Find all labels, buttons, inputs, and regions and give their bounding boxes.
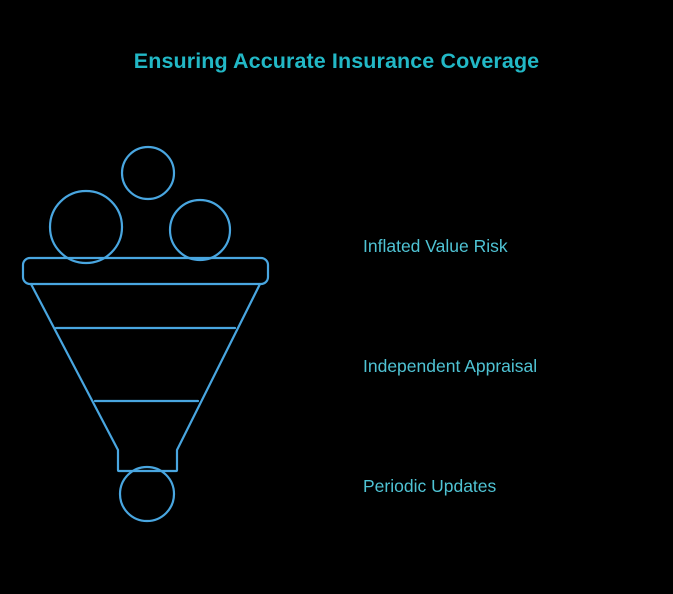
funnel-drop-icon [120, 467, 174, 521]
funnel-graphic [0, 130, 300, 540]
funnel-label-inflated-value-risk: Inflated Value Risk [363, 238, 508, 256]
funnel-label-periodic-updates: Periodic Updates [363, 478, 496, 496]
funnel-label-independent-appraisal: Independent Appraisal [363, 358, 537, 376]
circle-right-icon [170, 200, 230, 260]
funnel-svg [0, 130, 300, 540]
circle-left-icon [50, 191, 122, 263]
circle-top-icon [122, 147, 174, 199]
funnel-rim [23, 258, 268, 284]
funnel-stage-labels: Inflated Value Risk Independent Appraisa… [363, 130, 663, 540]
slide-canvas: Ensuring Accurate Insurance Coverage Inf… [0, 0, 673, 594]
funnel-body [31, 284, 260, 471]
page-title: Ensuring Accurate Insurance Coverage [0, 49, 673, 74]
